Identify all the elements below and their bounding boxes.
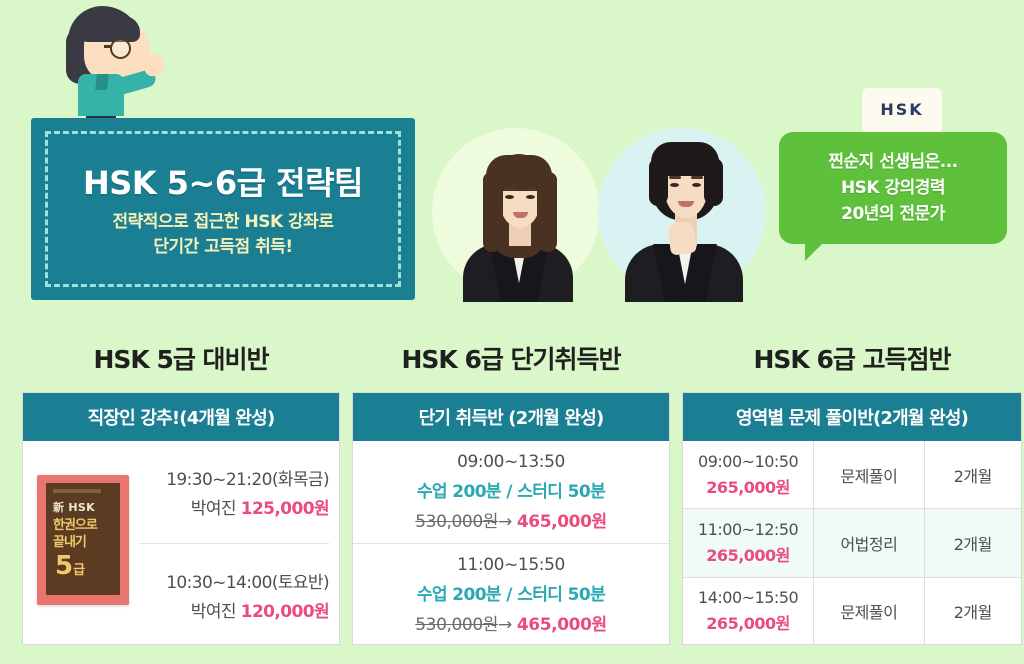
section-title-level6-short: HSK 6급 단기취득반 xyxy=(352,340,670,376)
row-price-group: 530,000원→ 465,000원 xyxy=(415,507,607,532)
instructor-2-eye-right xyxy=(692,183,701,187)
row-teacher: 박여진 xyxy=(191,602,236,622)
row-time-cell: 11:00~12:50 265,000원 xyxy=(683,509,813,576)
row-kind: 어법정리 xyxy=(813,509,923,576)
row-teacher-price: 박여진 125,000원 xyxy=(191,494,329,519)
section-title-level6-high: HSK 6급 고득점반 xyxy=(682,340,1022,376)
course-card-level6-high-grid: 09:00~10:50 265,000원 문제풀이 2개월 11:00~12:5… xyxy=(683,441,1021,645)
mascot-glasses-icon xyxy=(110,38,131,59)
row-price-discounted: 465,000원 xyxy=(517,512,607,532)
promo-line-2: HSK 강의경력 xyxy=(779,176,1007,202)
row-teacher-price: 박여진 120,000원 xyxy=(191,597,329,622)
course-card-level6-short-body: 09:00~13:50 수업 200분 / 스터디 50분 530,000원→ … xyxy=(353,441,669,645)
course-card-level5-rows: 19:30~21:20(화목금) 박여진 125,000원 10:30~14:0… xyxy=(139,441,329,645)
course-card-level6-short: 단기 취득반 (2개월 완성) 09:00~13:50 수업 200분 / 스터… xyxy=(352,392,670,645)
banner-subtitle-line1: 전략적으로 접근한 HSK 강좌로 xyxy=(31,210,415,235)
textbook-level: 5급 xyxy=(55,553,85,579)
instructor-2-hair-left xyxy=(649,158,668,206)
instructor-1-eye-right xyxy=(526,195,535,199)
textbook-level-number: 5 xyxy=(55,551,73,581)
promo-line-1: 찐순지 선생님은... xyxy=(779,150,1007,176)
course-card-level5: 직장인 강추!(4개월 완성) 新 HSK 한권으로 끝내기 5급 19:30~… xyxy=(22,392,340,645)
promo-speech-text: 찐순지 선생님은... HSK 강의경력 20년의 전문가 xyxy=(779,150,1007,227)
banner-subtitle-line2: 단기간 고득점 취득! xyxy=(31,235,415,260)
mascot-hand-icon xyxy=(143,53,166,78)
course-card-level6-high: 영역별 문제 풀이반(2개월 완성) 09:00~10:50 265,000원 … xyxy=(682,392,1022,645)
row-teacher: 박여진 xyxy=(191,499,236,519)
course-card-level6-high-body: 09:00~10:50 265,000원 문제풀이 2개월 11:00~12:5… xyxy=(683,441,1021,645)
instructor-1-hair-right xyxy=(537,172,557,252)
mascot-collar-icon xyxy=(95,74,109,90)
textbook-title-line2: 끝내기 xyxy=(53,531,86,550)
instructor-1-brow-left xyxy=(504,188,516,191)
headline-banner: HSK 5~6급 전략팀 전략적으로 접근한 HSK 강좌로 단기간 고득점 취… xyxy=(31,118,415,300)
instructor-2-hand xyxy=(667,220,697,255)
row-price: 120,000원 xyxy=(241,602,329,622)
instructor-2-hair-right xyxy=(704,158,723,206)
row-time: 09:00~13:50 xyxy=(457,452,565,472)
course-card-level5-body: 新 HSK 한권으로 끝내기 5급 19:30~21:20(화목금) 박여진 1… xyxy=(23,441,339,645)
row-kind: 문제풀이 xyxy=(813,578,923,645)
promo-line-3: 20년의 전문가 xyxy=(779,202,1007,228)
hsk-tag-bubble: HSK xyxy=(862,88,942,133)
row-price-arrow-icon: → xyxy=(498,512,512,532)
instructor-2-eye-left xyxy=(670,183,679,187)
instructor-2-photo xyxy=(625,140,743,302)
row-price: 265,000원 xyxy=(706,474,790,498)
banner-dashed-border xyxy=(45,131,401,287)
course-card-level6-high-header: 영역별 문제 풀이반(2개월 완성) xyxy=(683,393,1021,441)
course-card-level6-short-header: 단기 취득반 (2개월 완성) xyxy=(353,393,669,441)
instructor-2-brow-left xyxy=(669,176,681,179)
instructor-1-eye-left xyxy=(505,195,514,199)
hsk-course-poster: HSK 5~6급 전략팀 전략적으로 접근한 HSK 강좌로 단기간 고득점 취… xyxy=(0,0,1024,664)
textbook-level-suffix: 급 xyxy=(73,563,85,578)
table-row: 10:30~14:00(토요반) 박여진 120,000원 xyxy=(139,543,329,646)
instructor-2-brow-right xyxy=(691,176,703,179)
row-time: 11:00~15:50 xyxy=(457,555,565,575)
banner-title: HSK 5~6급 전략팀 xyxy=(31,158,415,204)
textbook-cover-top-rule xyxy=(53,489,101,493)
instructor-1-photo xyxy=(463,150,573,302)
row-price-original: 530,000원 xyxy=(415,615,498,635)
promo-speech-bubble: 찐순지 선생님은... HSK 강의경력 20년의 전문가 xyxy=(779,132,1007,244)
textbook-cover-inner: 新 HSK 한권으로 끝내기 5급 xyxy=(46,483,120,595)
row-price-group: 530,000원→ 465,000원 xyxy=(415,610,607,635)
textbook-brand: 新 HSK xyxy=(53,499,95,515)
row-duration: 2개월 xyxy=(924,578,1021,645)
row-detail: 수업 200분 / 스터디 50분 xyxy=(417,477,605,502)
instructor-1-hair-left xyxy=(483,172,503,252)
table-row: 11:00~15:50 수업 200분 / 스터디 50분 530,000원→ … xyxy=(353,543,669,646)
hsk-tag-label: HSK xyxy=(862,100,942,119)
table-row: 19:30~21:20(화목금) 박여진 125,000원 xyxy=(139,441,329,543)
mascot-fringe-icon xyxy=(78,16,140,42)
row-price-arrow-icon: → xyxy=(498,615,512,635)
row-time-cell: 09:00~10:50 265,000원 xyxy=(683,441,813,508)
row-detail: 수업 200분 / 스터디 50분 xyxy=(417,580,605,605)
row-duration: 2개월 xyxy=(924,509,1021,576)
row-price: 265,000원 xyxy=(706,542,790,566)
table-row: 14:00~15:50 265,000원 문제풀이 2개월 xyxy=(683,577,1021,645)
table-row: 11:00~12:50 265,000원 어법정리 2개월 xyxy=(683,508,1021,576)
row-time: 10:30~14:00(토요반) xyxy=(166,568,329,593)
row-price: 265,000원 xyxy=(706,610,790,634)
row-price: 125,000원 xyxy=(241,499,329,519)
section-title-level5: HSK 5급 대비반 xyxy=(22,340,340,376)
row-time-cell: 14:00~15:50 265,000원 xyxy=(683,578,813,645)
table-row: 09:00~10:50 265,000원 문제풀이 2개월 xyxy=(683,441,1021,508)
banner-subtitle: 전략적으로 접근한 HSK 강좌로 단기간 고득점 취득! xyxy=(31,210,415,259)
row-kind: 문제풀이 xyxy=(813,441,923,508)
row-time: 11:00~12:50 xyxy=(698,520,798,539)
row-time: 19:30~21:20(화목금) xyxy=(166,465,329,490)
mascot-illustration xyxy=(44,2,174,120)
textbook-cover-image: 新 HSK 한권으로 끝내기 5급 xyxy=(37,475,129,605)
row-price-original: 530,000원 xyxy=(415,512,498,532)
row-price-discounted: 465,000원 xyxy=(517,615,607,635)
course-card-level5-header: 직장인 강추!(4개월 완성) xyxy=(23,393,339,441)
row-time: 14:00~15:50 xyxy=(698,588,798,607)
row-time: 09:00~10:50 xyxy=(698,452,798,471)
table-row: 09:00~13:50 수업 200분 / 스터디 50분 530,000원→ … xyxy=(353,441,669,543)
row-duration: 2개월 xyxy=(924,441,1021,508)
instructor-1-brow-right xyxy=(525,188,537,191)
